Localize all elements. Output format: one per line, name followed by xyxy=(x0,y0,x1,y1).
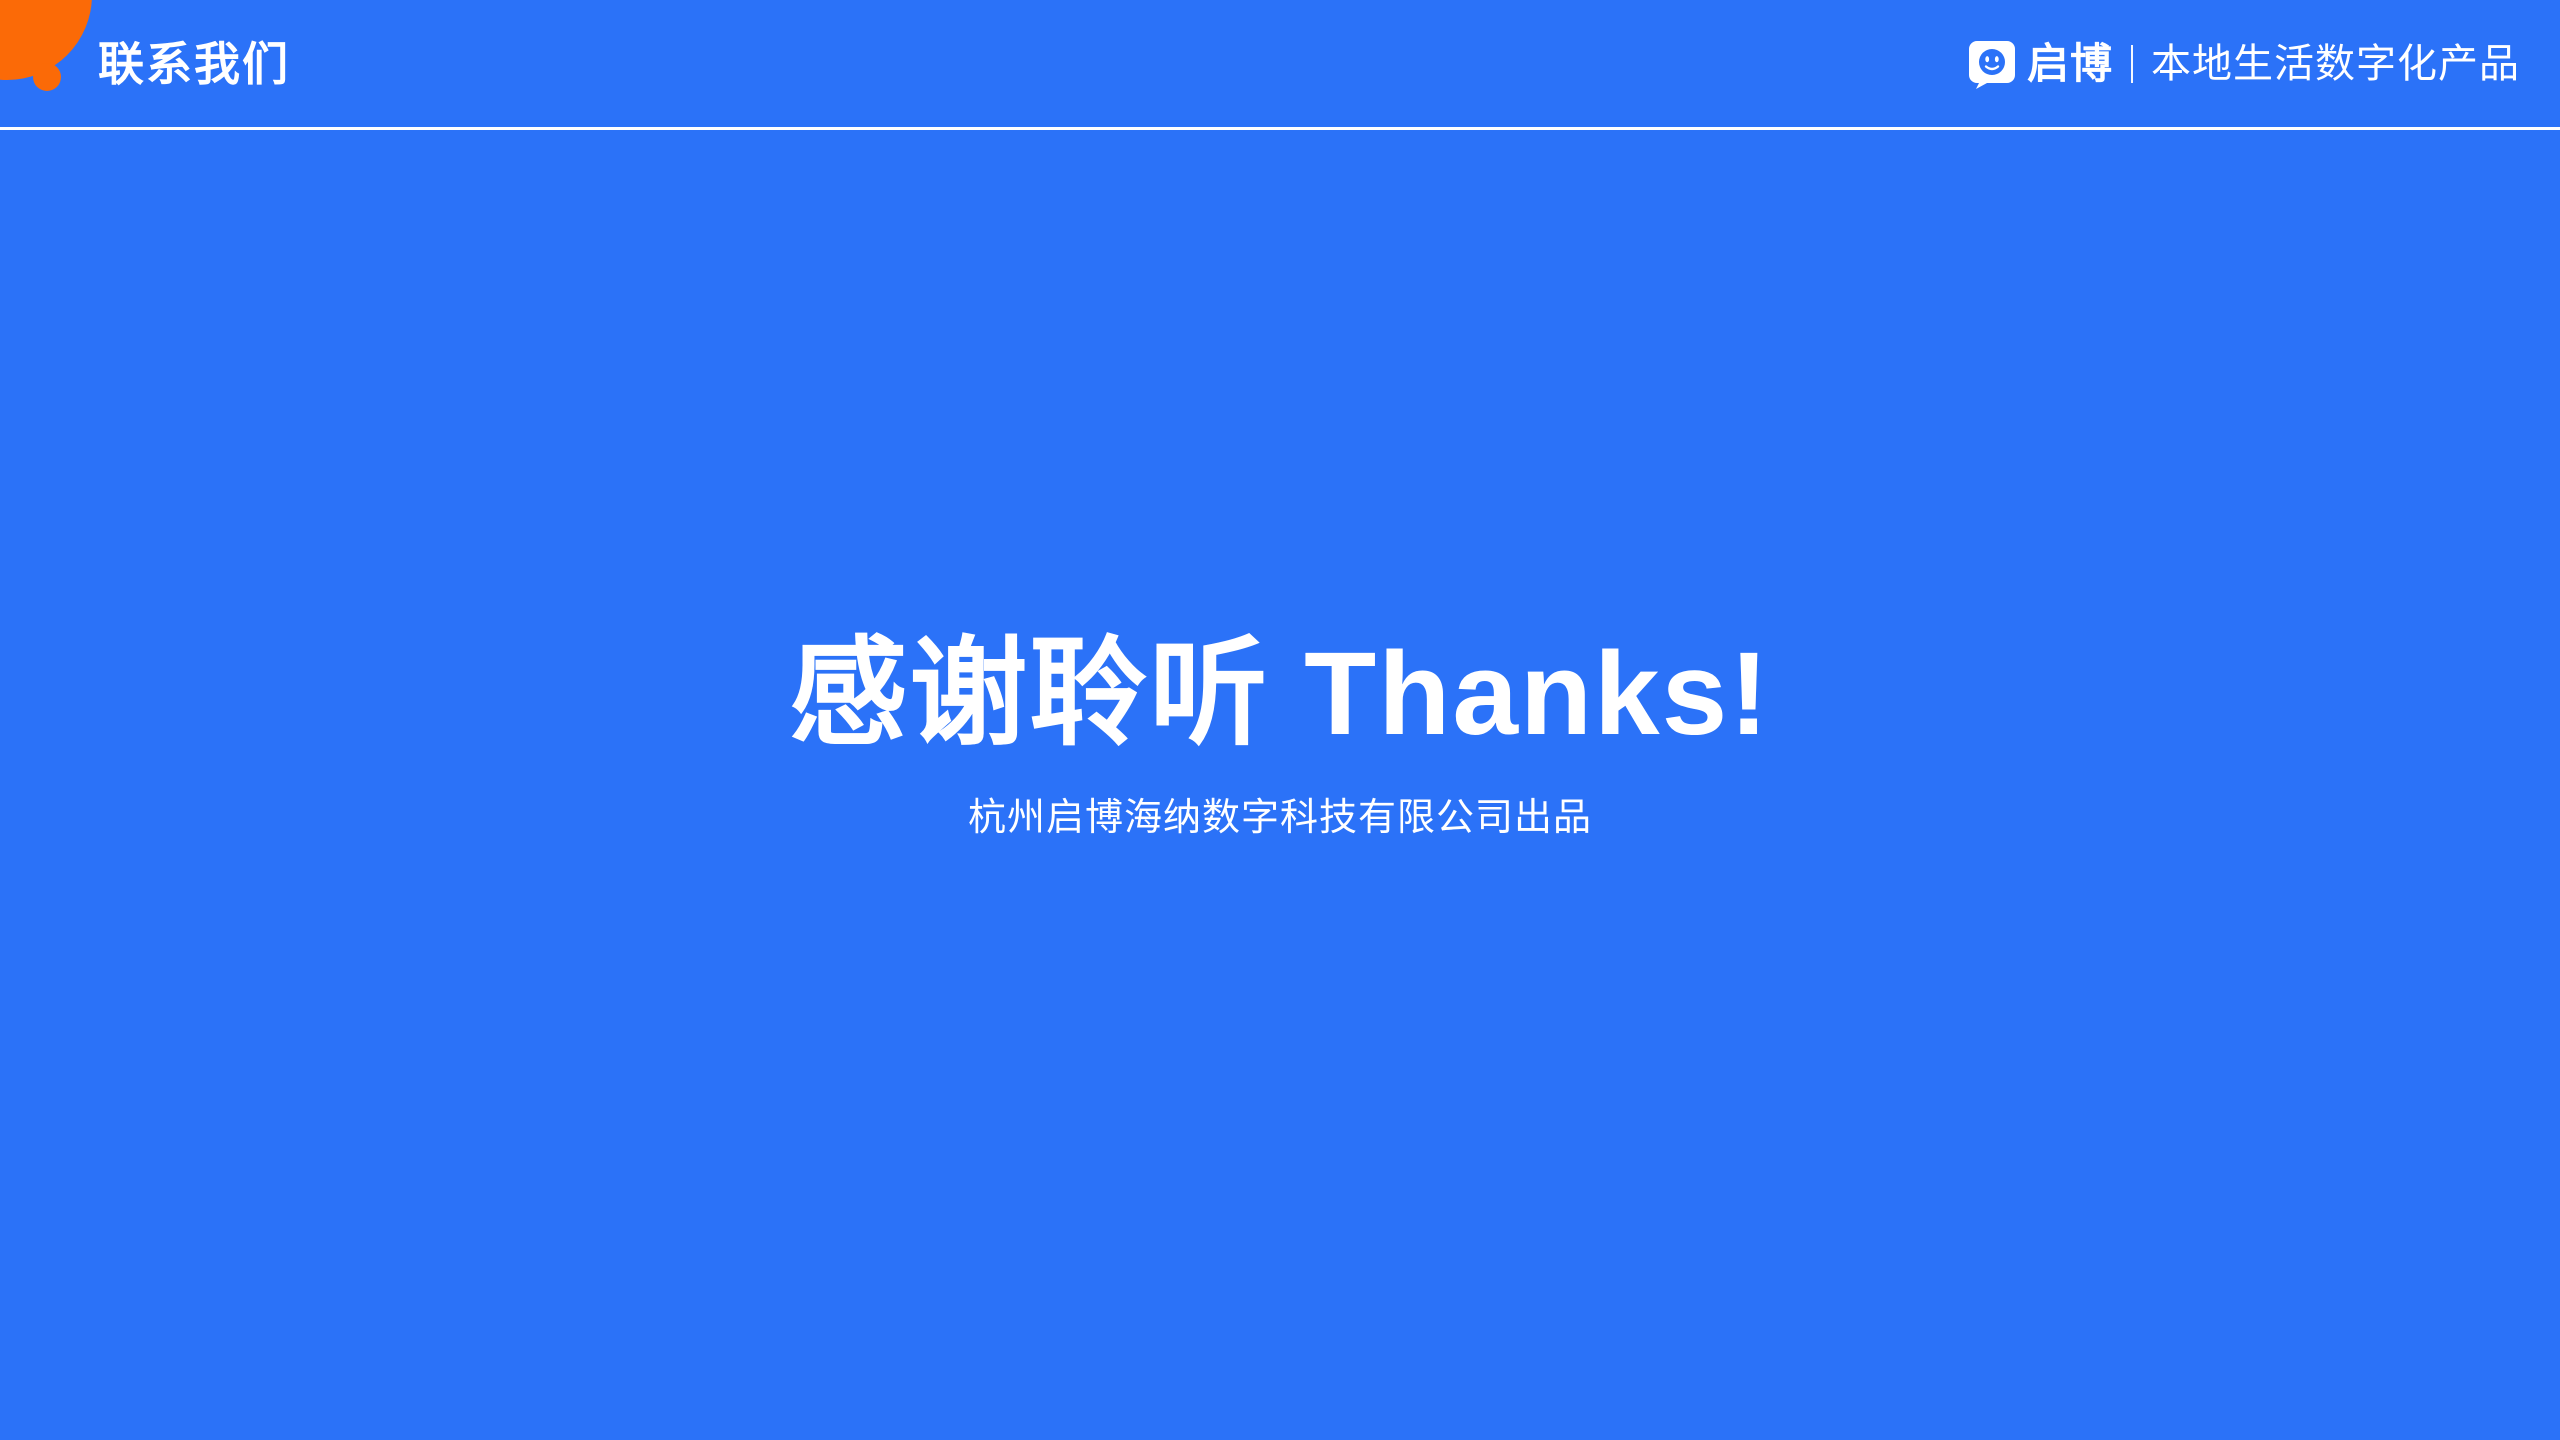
page-title: 联系我们 xyxy=(98,41,290,87)
brand-separator xyxy=(2131,45,2133,83)
main-title: 感谢聆听 Thanks! xyxy=(789,628,1770,760)
main-subtitle: 杭州启博海纳数字科技有限公司出品 xyxy=(968,796,1592,842)
thank-you-slide: 联系我们 启博 本地生活数字化产品 感谢聆听 Thanks! 杭州启博海纳数字科… xyxy=(0,0,2560,1440)
slide-body: 感谢聆听 Thanks! 杭州启博海纳数字科技有限公司出品 xyxy=(0,128,2560,1440)
brand-lockup: 启博 本地生活数字化产品 xyxy=(1967,39,2520,89)
slide-header: 联系我们 启博 本地生活数字化产品 xyxy=(0,0,2560,128)
brand-tagline: 本地生活数字化产品 xyxy=(2151,44,2520,84)
brand-name: 启博 xyxy=(2027,43,2113,85)
chat-smiley-icon xyxy=(1967,39,2027,89)
